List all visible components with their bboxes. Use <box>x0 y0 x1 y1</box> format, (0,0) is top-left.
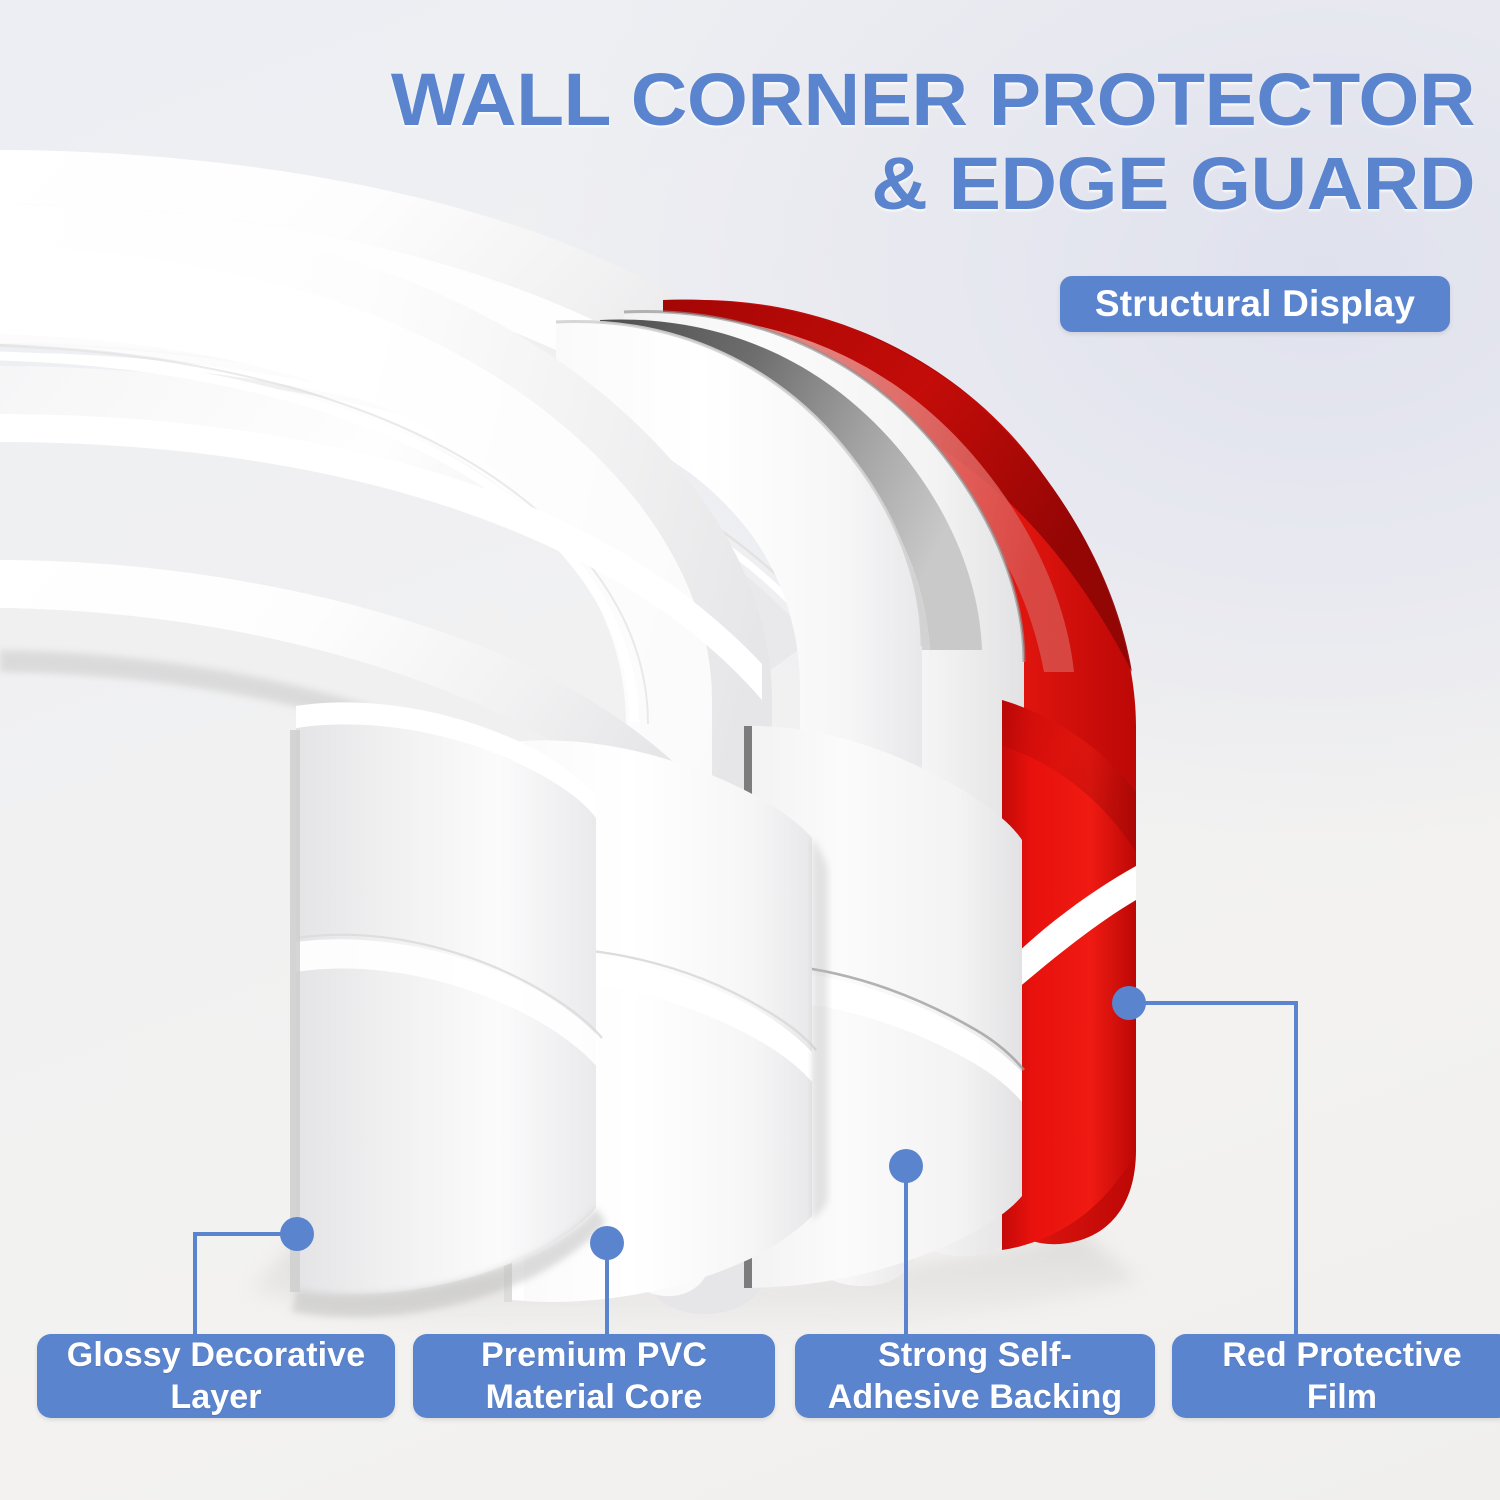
callout-dot-red <box>1112 986 1146 1020</box>
infographic-canvas: WALL CORNER PROTECTOR & EDGE GUARD Struc… <box>0 0 1500 1500</box>
callout-label-strong-self-adhesive-backing: Strong Self-Adhesive Backing <box>795 1334 1155 1418</box>
page-title: WALL CORNER PROTECTOR & EDGE GUARD <box>230 58 1475 226</box>
layer-panels <box>290 700 1136 1317</box>
callout-dot-glossy <box>280 1217 314 1251</box>
callout-dot-adhesive <box>889 1149 923 1183</box>
callout-label-red-protective-film: Red Protective Film <box>1172 1334 1500 1418</box>
callout-label-premium-pvc-material-core: Premium PVC Material Core <box>413 1334 775 1418</box>
page-title-line-2: & EDGE GUARD <box>230 142 1475 226</box>
page-title-line-1: WALL CORNER PROTECTOR <box>230 58 1475 142</box>
leader-line-red <box>1129 1003 1296 1334</box>
callout-label-glossy-decorative-layer: Glossy Decorative Layer <box>37 1334 395 1418</box>
structural-display-badge: Structural Display <box>1060 276 1450 332</box>
callout-dot-pvc <box>590 1226 624 1260</box>
